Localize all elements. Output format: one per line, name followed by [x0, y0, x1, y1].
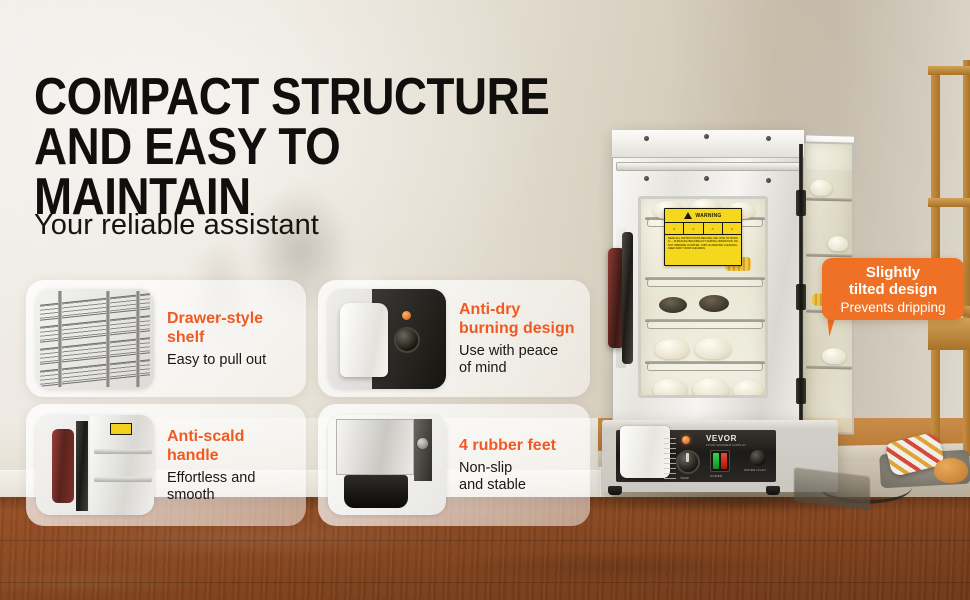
screw-icon: [766, 136, 771, 141]
anti-scald-thumbnail: [36, 415, 154, 515]
callout-subtitle: Prevents dripping: [830, 300, 956, 315]
control-knob-icon: [394, 327, 420, 353]
shelf-rail-icon: [94, 449, 152, 454]
screw-icon: [704, 134, 709, 139]
screw-icon: [704, 176, 709, 181]
card-title: Anti-dry burning design: [459, 300, 575, 338]
switch-red-icon: [721, 453, 727, 469]
steamer-top-bar: [616, 162, 802, 171]
rubber-foot: [766, 486, 780, 495]
anti-dry-thumbnail: [328, 289, 446, 389]
screw-icon: [644, 176, 649, 181]
side-shelf: [806, 365, 852, 369]
card-text-block: Drawer-style shelf Easy to pull out: [167, 309, 266, 369]
screw-icon: [644, 136, 649, 141]
hinge: [796, 190, 806, 216]
rack-post-icon: [106, 291, 110, 387]
power-rocker-switch[interactable]: [710, 450, 730, 472]
card-text-block: Anti-scald handle Effortless and smooth: [167, 427, 255, 504]
hinge: [796, 284, 806, 310]
card-title: Anti-scald handle: [167, 427, 255, 465]
switch-label: POWER: [710, 474, 722, 478]
rack-post-icon: [136, 291, 140, 387]
food-item: [822, 348, 846, 365]
product-food-steamer: WARNING ⚠ ⚠ ⚠ ⚠ READ ALL INSTRUCTIONS BE…: [598, 120, 860, 500]
water-tank[interactable]: [620, 426, 670, 478]
warning-icon-cell: ⚠: [684, 223, 703, 234]
feature-card-anti-scald: Anti-scald handle Effortless and smooth: [26, 404, 306, 526]
warning-label-icon: [110, 423, 132, 435]
feature-card-rubber-feet: 4 rubber feet Non-slip and stable: [318, 404, 590, 526]
door-shelf-rail: [647, 363, 763, 371]
warning-icon-cell: ⚠: [665, 223, 684, 234]
card-text-block: Anti-dry burning design Use with peace o…: [459, 300, 575, 377]
rubber-foot: [608, 486, 622, 495]
knob-pointer-icon: [686, 453, 689, 462]
floor-plank-line: [0, 582, 970, 583]
food-item: [733, 380, 763, 398]
warning-icon-cell: ⚠: [704, 223, 723, 234]
shelf-rail-icon: [94, 477, 152, 482]
warning-header: WARNING: [665, 209, 741, 223]
shelf-rack-base: [928, 318, 970, 350]
food-item: [695, 338, 731, 359]
shelf-rack-post-right: [963, 60, 970, 456]
warning-icon-row: ⚠ ⚠ ⚠ ⚠: [665, 223, 741, 235]
card-subtitle: Non-slip and stable: [459, 460, 556, 494]
water-tank-icon: [340, 303, 388, 377]
food-item: [810, 180, 832, 197]
side-shelf: [806, 197, 852, 201]
food-item: [655, 339, 689, 359]
callout-tilted-design: Slightly tilted design Prevents dripping: [822, 258, 964, 320]
hinge: [796, 378, 806, 404]
floor-plank-line: [0, 540, 970, 541]
rack-post-icon: [58, 291, 62, 387]
warning-triangle-icon: [684, 212, 692, 219]
brand-logo: VEVOR: [706, 434, 737, 443]
food-item: [828, 236, 848, 251]
marketing-banner: WARNING ⚠ ⚠ ⚠ ⚠ READ ALL INSTRUCTIONS BE…: [0, 0, 970, 600]
page-subtitle: Your reliable assistant: [34, 209, 319, 242]
food-item-dark: [659, 297, 687, 313]
handle-bar-icon: [76, 421, 88, 511]
shelf-rack-top: [928, 66, 970, 75]
handle-bar: [622, 232, 633, 364]
rubber-foot-icon: [344, 475, 408, 508]
feature-card-anti-dry: Anti-dry burning design Use with peace o…: [318, 280, 590, 397]
brand-tagline: FOOD WARMER DISPLAY: [706, 443, 746, 447]
warning-label: WARNING ⚠ ⚠ ⚠ ⚠ READ ALL INSTRUCTIONS BE…: [664, 208, 742, 266]
cabinet-side-icon: [414, 419, 432, 481]
handle-grip-icon: [52, 429, 74, 503]
warning-body-text: READ ALL INSTRUCTIONS BEFORE USE. RISK O…: [665, 235, 741, 253]
card-title: Drawer-style shelf: [167, 309, 266, 347]
card-title: 4 rubber feet: [459, 436, 556, 455]
page-title: COMPACT STRUCTURE AND EASY TO MAINTAIN: [34, 72, 562, 222]
door-shelf-rail: [647, 279, 763, 287]
indicator-lamp-icon: [402, 311, 411, 320]
door-shelf-rail: [647, 321, 763, 329]
drawer-shelf-thumbnail: [36, 289, 154, 389]
knob-label: TEMP: [680, 476, 689, 480]
warning-icon-cell: ⚠: [723, 223, 741, 234]
card-text-block: 4 rubber feet Non-slip and stable: [459, 436, 556, 494]
rubber-feet-thumbnail: [328, 415, 446, 515]
food-item: [653, 379, 687, 398]
shelf-rack-mid: [928, 198, 970, 207]
aux-label: WATER LIGHT: [744, 468, 766, 472]
card-subtitle: Effortless and smooth: [167, 470, 255, 504]
switch-green-icon: [713, 453, 719, 469]
temperature-scale: [664, 438, 676, 482]
screw-icon: [416, 437, 429, 450]
food-item: [693, 378, 729, 398]
side-shelf: [806, 253, 852, 257]
food-item-dark: [699, 295, 729, 312]
cabinet-corner-icon: [336, 419, 414, 475]
bread-roll: [934, 458, 968, 483]
aux-knob[interactable]: [750, 450, 766, 466]
screw-icon: [766, 178, 771, 183]
indicator-lamp-icon: [682, 436, 690, 444]
warning-title: WARNING: [695, 213, 721, 219]
feature-card-drawer-shelf: Drawer-style shelf Easy to pull out: [26, 280, 306, 397]
callout-title: Slightly tilted design: [830, 264, 956, 298]
card-subtitle: Easy to pull out: [167, 352, 266, 369]
card-subtitle: Use with peace of mind: [459, 343, 575, 377]
